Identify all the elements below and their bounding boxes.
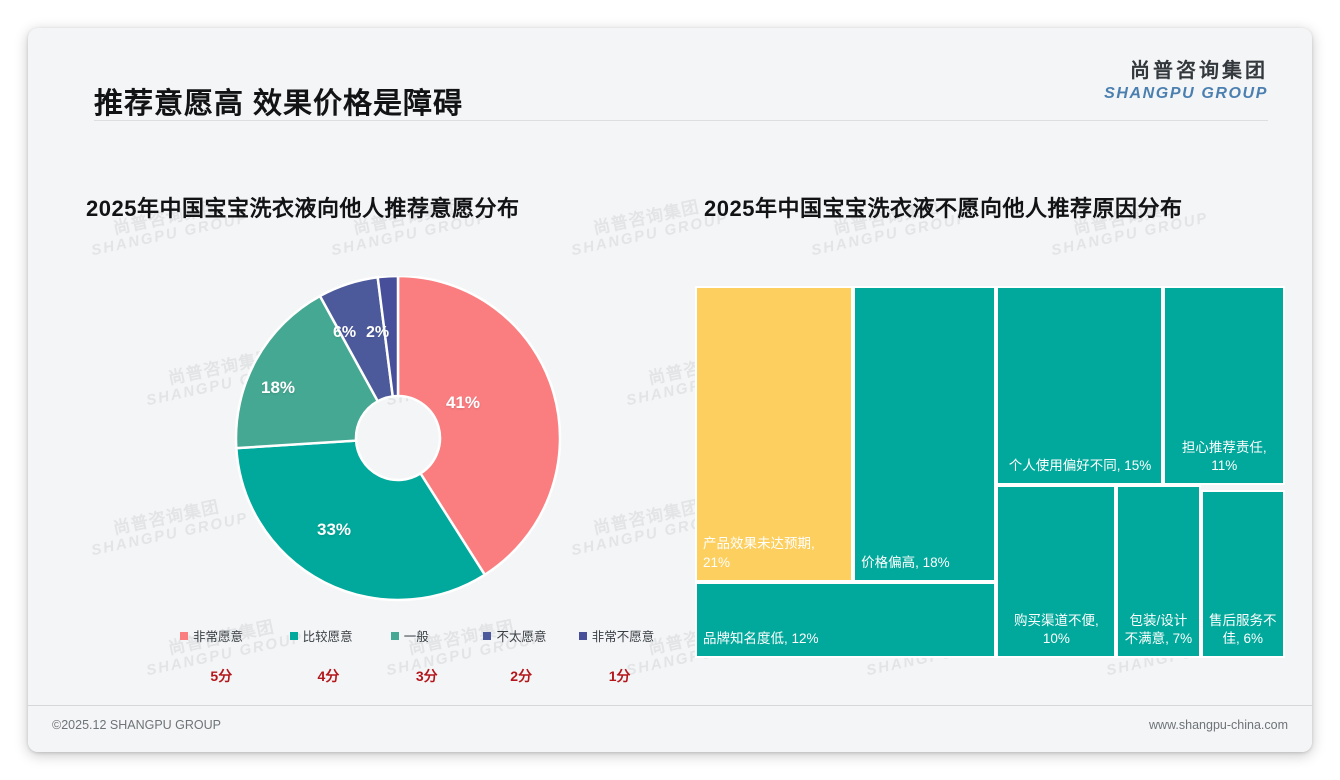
treemap-cell-5[interactable]: 担心推荐责任, 11% bbox=[1163, 286, 1285, 485]
treemap-cell-label: 价格偏高, 18% bbox=[855, 554, 994, 580]
donut-label-fairly-willing: 33% bbox=[317, 520, 351, 540]
donut-label-not-very-willing: 6% bbox=[333, 324, 356, 342]
treemap-cell-label: 产品效果未达预期, 21% bbox=[697, 535, 851, 579]
legend-label: 一般 bbox=[404, 626, 429, 645]
legend-label: 比较愿意 bbox=[303, 626, 353, 645]
slide-footer: ©2025.12 SHANGPU GROUP www.shangpu-china… bbox=[28, 706, 1312, 752]
recommendation-donut-chart: 41% 33% 18% 6% 2% bbox=[203, 276, 593, 606]
legend-item-1[interactable]: 非常愿意 bbox=[148, 626, 264, 645]
treemap-cell-label: 包装/设计不满意, 7% bbox=[1118, 612, 1198, 656]
page-title: 推荐意愿高 效果价格是障碍 bbox=[94, 80, 463, 122]
donut-legend: 非常愿意比较愿意一般不太愿意非常不愿意 bbox=[148, 626, 668, 645]
treemap-cell-label: 个人使用偏好不同, 15% bbox=[998, 457, 1161, 483]
legend-item-5[interactable]: 非常不愿意 bbox=[565, 626, 668, 645]
right-chart-title: 2025年中国宝宝洗衣液不愿向他人推荐原因分布 bbox=[704, 191, 1182, 223]
legend-item-2[interactable]: 比较愿意 bbox=[264, 626, 367, 645]
score-label-4: 2分 bbox=[467, 666, 565, 686]
legend-label: 非常不愿意 bbox=[592, 626, 655, 645]
treemap-cell-2[interactable]: 价格偏高, 18% bbox=[853, 286, 996, 582]
legend-swatch-icon bbox=[579, 632, 587, 640]
header-divider bbox=[94, 120, 1268, 121]
score-label-5: 1分 bbox=[565, 666, 668, 686]
treemap-cell-label: 购买渠道不便, 10% bbox=[998, 612, 1114, 656]
donut-label-neutral: 18% bbox=[261, 378, 295, 398]
brand-logo: 尚普咨询集团 SHANGPU GROUP bbox=[1104, 60, 1268, 103]
donut-label-very-willing: 41% bbox=[446, 393, 480, 413]
legend-swatch-icon bbox=[483, 632, 491, 640]
treemap-cell-1[interactable]: 产品效果未达预期, 21% bbox=[695, 286, 853, 582]
legend-item-3[interactable]: 一般 bbox=[367, 626, 466, 645]
left-chart-title: 2025年中国宝宝洗衣液向他人推荐意愿分布 bbox=[86, 191, 519, 223]
treemap-cell-3[interactable]: 品牌知名度低, 12% bbox=[695, 582, 996, 658]
legend-label: 非常愿意 bbox=[193, 626, 243, 645]
treemap-cell-6[interactable]: 购买渠道不便, 10% bbox=[996, 485, 1116, 658]
legend-swatch-icon bbox=[391, 632, 399, 640]
treemap-cell-7[interactable]: 包装/设计不满意, 7% bbox=[1116, 485, 1200, 658]
logo-english-text: SHANGPU GROUP bbox=[1104, 84, 1268, 103]
legend-swatch-icon bbox=[180, 632, 188, 640]
reasons-treemap-chart: 产品效果未达预期, 21%价格偏高, 18%品牌知名度低, 12%个人使用偏好不… bbox=[695, 286, 1285, 658]
treemap-cell-4[interactable]: 个人使用偏好不同, 15% bbox=[996, 286, 1163, 485]
legend-label: 不太愿意 bbox=[496, 626, 546, 645]
slide-canvas: 尚普咨询集团SHANGPU GROUP尚普咨询集团SHANGPU GROUP尚普… bbox=[28, 28, 1312, 752]
treemap-cell-label: 售后服务不佳, 6% bbox=[1203, 612, 1283, 656]
score-label-2: 4分 bbox=[267, 666, 371, 686]
treemap-cell-label: 品牌知名度低, 12% bbox=[697, 630, 994, 656]
score-label-1: 5分 bbox=[148, 666, 267, 686]
treemap-cell-8[interactable]: 售后服务不佳, 6% bbox=[1201, 490, 1285, 658]
donut-label-very-unwilling: 2% bbox=[366, 324, 389, 342]
slide-header: 推荐意愿高 效果价格是障碍 尚普咨询集团 SHANGPU GROUP bbox=[28, 28, 1312, 122]
logo-chinese-text: 尚普咨询集团 bbox=[1104, 60, 1268, 83]
treemap-cell-label: 担心推荐责任, 11% bbox=[1165, 439, 1283, 483]
score-label-3: 3分 bbox=[370, 666, 467, 686]
legend-item-4[interactable]: 不太愿意 bbox=[465, 626, 564, 645]
footer-copyright: ©2025.12 SHANGPU GROUP bbox=[52, 718, 221, 732]
footer-website[interactable]: www.shangpu-china.com bbox=[1149, 718, 1288, 732]
donut-svg bbox=[203, 276, 593, 606]
donut-score-row: 5分4分3分2分1分 bbox=[148, 666, 668, 686]
legend-swatch-icon bbox=[290, 632, 298, 640]
